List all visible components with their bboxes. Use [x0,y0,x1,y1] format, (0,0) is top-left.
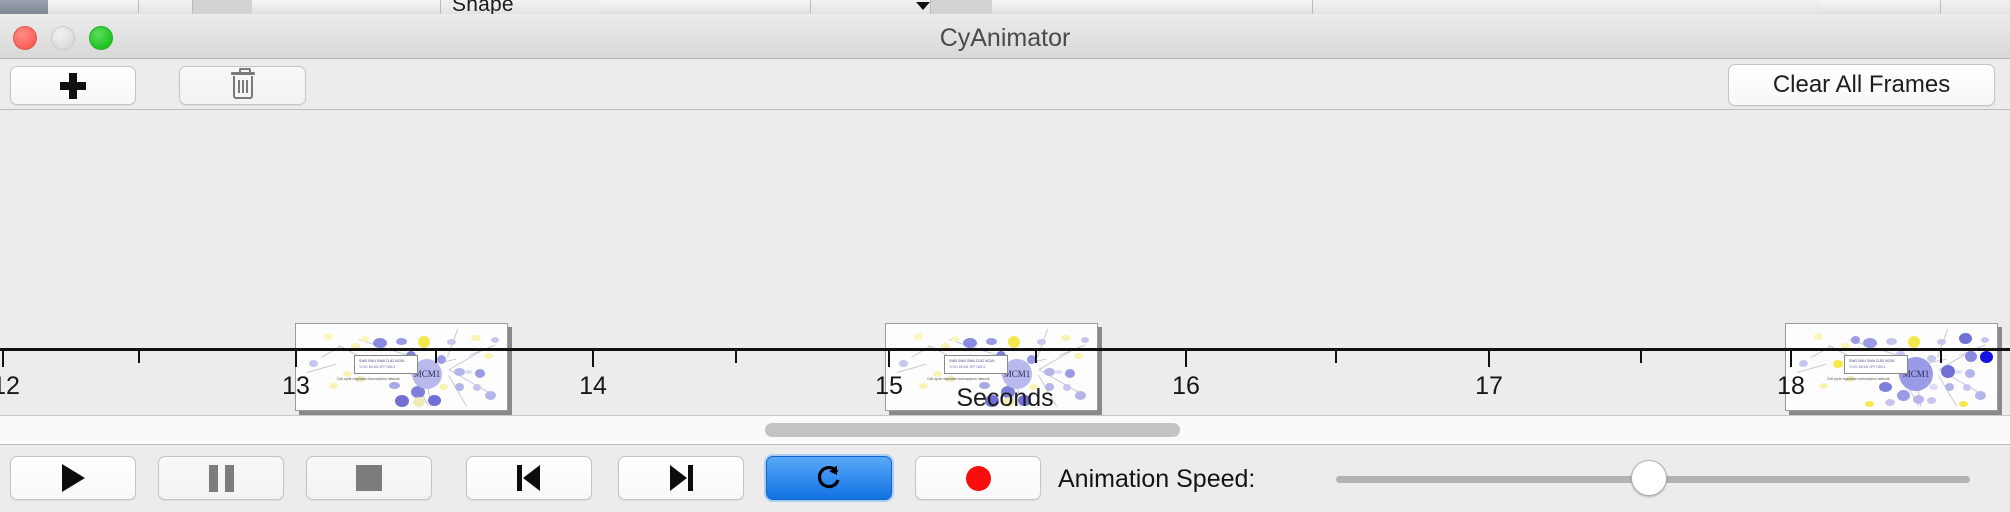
delete-frame-button[interactable] [179,66,306,105]
bg-chip [992,0,1133,14]
stop-icon [356,465,382,491]
skip-back-icon [516,465,542,491]
cyanimator-window: CyAnimator Clear All Frames [0,14,2010,510]
pause-icon [209,465,234,492]
bg-chip [0,0,49,14]
animation-speed-slider-thumb[interactable] [1631,460,1667,496]
axis-tick [1790,351,1792,367]
skip-forward-icon [668,465,694,491]
loop-button[interactable] [766,456,892,500]
axis-tick-minor [1335,351,1337,363]
bg-chip [352,0,441,14]
skip-forward-button[interactable] [618,456,744,500]
add-frame-button[interactable] [10,66,136,105]
callout-box: SWI5 SWI4 SWI6 CLB2 MCM1 YOX1 MCM1 SFF N… [354,355,418,374]
axis-tick-minor [735,351,737,363]
play-icon [62,464,85,492]
clear-all-frames-button[interactable]: Clear All Frames [1728,64,1995,106]
animation-speed-label: Animation Speed: [1058,465,1255,494]
bg-chip [48,0,139,14]
trash-icon [231,72,255,99]
bg-chip [1820,0,1941,14]
window-title: CyAnimator [0,24,2010,53]
axis-tick-minor [138,351,140,363]
pause-button[interactable] [158,456,284,500]
stop-button[interactable] [306,456,432,500]
axis-tick-minor [1940,351,1942,363]
scrollbar-thumb[interactable] [765,423,1180,437]
axis-tick [1185,351,1187,367]
axis-title: Seconds [956,384,1053,412]
window-titlebar: CyAnimator [0,14,2010,59]
play-button[interactable] [10,456,136,500]
frame-toolbar: Clear All Frames [0,59,2010,110]
axis-tick [888,351,890,367]
background-window-strip: Shape [0,0,2010,15]
axis-tick [1488,351,1490,367]
timeline-panel[interactable]: MCM1 SWI5 SWI4 SWI6 CLB2 MCM1 YOX1 MCM1 … [0,110,2010,416]
axis-tick-minor [1640,351,1642,363]
axis-tick [2,351,4,367]
axis-tick [592,351,594,367]
axis-tick-minor [1035,351,1037,363]
plus-icon [60,73,86,99]
skip-back-button[interactable] [466,456,592,500]
timeline-scrollbar[interactable] [0,416,2010,445]
bg-chip [192,0,254,14]
playback-controls: Animation Speed: [0,445,2010,512]
record-button[interactable] [915,456,1041,500]
bg-chip [600,0,691,14]
axis-title-wrap: Seconds [0,384,2010,413]
triangle-down-icon [916,2,930,10]
timeline-axis [0,348,2010,351]
callout-box: SWI5 SWI4 SWI6 CLB2 MCM1 YOX1 MCM1 SFF N… [944,355,1008,374]
axis-tick-minor [435,351,437,363]
bg-chip [930,0,994,14]
bg-chip [1132,0,1313,14]
callout-box: SWI5 SWI4 SWI6 CLB2 MCM1 YOX1 MCM1 SFF N… [1844,355,1908,374]
axis-tick [295,351,297,367]
record-icon [966,466,991,491]
loop-icon [814,463,844,493]
bg-chip [252,0,353,14]
bg-chip [690,0,811,14]
bg-shape-label: Shape [452,0,514,15]
